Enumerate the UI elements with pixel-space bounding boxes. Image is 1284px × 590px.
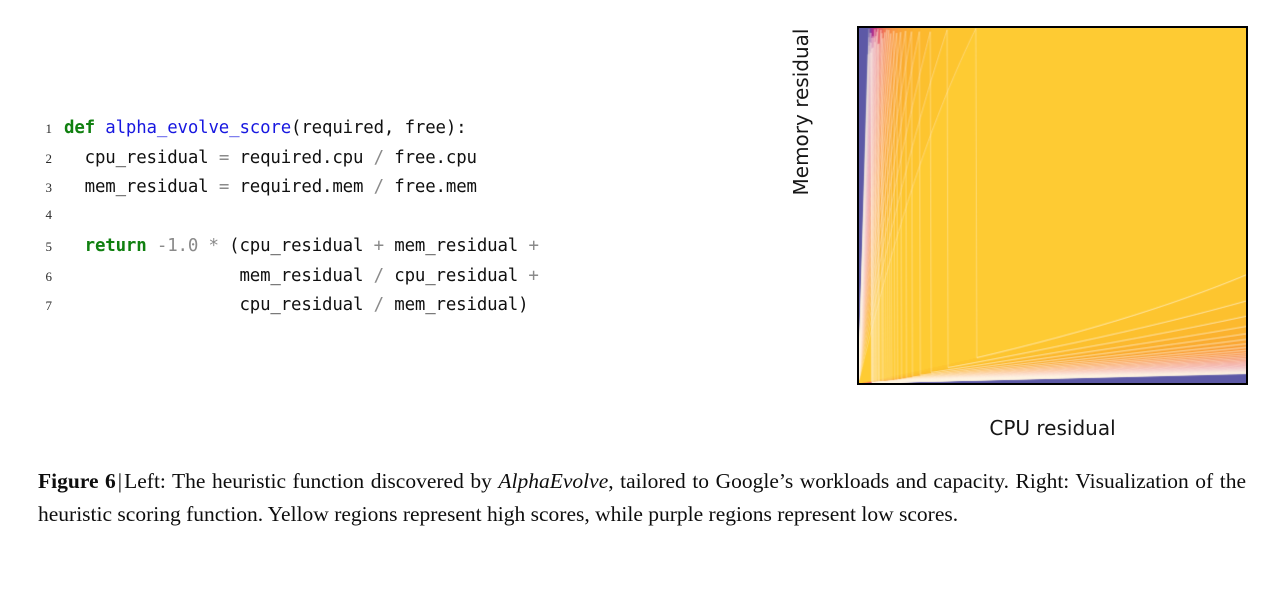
code-token: mem_residual bbox=[64, 266, 374, 286]
code-token: * bbox=[209, 236, 219, 256]
x-tick-label: 0% bbox=[857, 383, 874, 385]
code-token: cpu_residual bbox=[384, 266, 528, 286]
code-line-text: mem_residual = required.mem / free.mem bbox=[64, 177, 477, 197]
caption-text-part1: Left: The heuristic function discovered … bbox=[124, 469, 498, 493]
x-tick-label: 50% bbox=[1033, 383, 1075, 385]
code-token: cpu_residual bbox=[64, 295, 374, 315]
figure-caption: Figure 6|Left: The heuristic function di… bbox=[38, 465, 1246, 531]
code-line: 5 return -1.0 * (cpu_residual + mem_resi… bbox=[18, 236, 758, 266]
figure-separator: | bbox=[116, 469, 124, 493]
heuristic-score-heatmap bbox=[859, 28, 1246, 383]
code-token: -1.0 bbox=[157, 236, 198, 256]
code-token: + bbox=[374, 236, 384, 256]
code-token: + bbox=[528, 236, 538, 256]
y-tick-label: 50% bbox=[857, 197, 859, 219]
code-line: 4 bbox=[18, 207, 758, 237]
code-line-text: mem_residual / cpu_residual + bbox=[64, 266, 539, 286]
code-token bbox=[64, 236, 85, 256]
code-token: mem_residual) bbox=[384, 295, 528, 315]
code-line: 6 mem_residual / cpu_residual + bbox=[18, 266, 758, 296]
code-token: mem_residual bbox=[384, 236, 528, 256]
code-token: / bbox=[374, 266, 384, 286]
code-token: free.mem bbox=[384, 177, 477, 197]
y-tick-label: 25% bbox=[857, 286, 859, 308]
code-token: return bbox=[85, 236, 147, 256]
code-line-text: return -1.0 * (cpu_residual + mem_residu… bbox=[64, 236, 539, 256]
caption-emphasis: AlphaEvolve bbox=[498, 469, 608, 493]
code-line-number: 6 bbox=[18, 269, 64, 285]
code-token: (required, free): bbox=[291, 118, 466, 138]
y-tick-label: 0% bbox=[857, 376, 859, 385]
contour-plot-panel: 0%25%50%75%100%0%25%50%75%100% CPU resid… bbox=[760, 0, 1284, 445]
code-token: (cpu_residual bbox=[219, 236, 374, 256]
code-line-number: 4 bbox=[18, 207, 64, 223]
code-line: 3 mem_residual = required.mem / free.mem bbox=[18, 177, 758, 207]
y-tick-label: 75% bbox=[857, 107, 859, 129]
code-line-text: def alpha_evolve_score(required, free): bbox=[64, 118, 467, 138]
code-token bbox=[147, 236, 157, 256]
code-token: cpu_residual bbox=[64, 148, 219, 168]
code-token bbox=[198, 236, 208, 256]
x-tick-label: 25% bbox=[936, 383, 978, 385]
code-token: required.mem bbox=[229, 177, 373, 197]
code-line-text: cpu_residual = required.cpu / free.cpu bbox=[64, 148, 477, 168]
x-tick-label: 100% bbox=[1223, 383, 1248, 385]
y-axis-label: Memory residual bbox=[789, 0, 813, 232]
code-line: 1def alpha_evolve_score(required, free): bbox=[18, 118, 758, 148]
code-line-number: 1 bbox=[18, 121, 64, 137]
code-line-text: cpu_residual / mem_residual) bbox=[64, 295, 528, 315]
code-token: / bbox=[374, 148, 384, 168]
y-tick-label: 100% bbox=[857, 26, 859, 39]
x-axis-label: CPU residual bbox=[857, 416, 1248, 440]
plot-frame: 0%25%50%75%100%0%25%50%75%100% bbox=[857, 26, 1248, 385]
code-token: = bbox=[219, 177, 229, 197]
code-listing: 1def alpha_evolve_score(required, free):… bbox=[18, 118, 758, 325]
code-token: mem_residual bbox=[64, 177, 219, 197]
code-token: free.cpu bbox=[384, 148, 477, 168]
x-tick-label: 75% bbox=[1131, 383, 1173, 385]
code-line: 7 cpu_residual / mem_residual) bbox=[18, 295, 758, 325]
code-token: / bbox=[374, 177, 384, 197]
code-token: + bbox=[528, 266, 538, 286]
code-line: 2 cpu_residual = required.cpu / free.cpu bbox=[18, 148, 758, 178]
code-line-number: 2 bbox=[18, 151, 64, 167]
figure-label: Figure 6 bbox=[38, 469, 116, 493]
code-token: / bbox=[374, 295, 384, 315]
code-line-number: 7 bbox=[18, 298, 64, 314]
code-token: required.cpu bbox=[229, 148, 373, 168]
code-token: def bbox=[64, 118, 105, 138]
code-token: alpha_evolve_score bbox=[105, 118, 291, 138]
code-token: = bbox=[219, 148, 229, 168]
code-line-number: 3 bbox=[18, 180, 64, 196]
figure-row: 1def alpha_evolve_score(required, free):… bbox=[0, 0, 1284, 445]
code-line-number: 5 bbox=[18, 239, 64, 255]
